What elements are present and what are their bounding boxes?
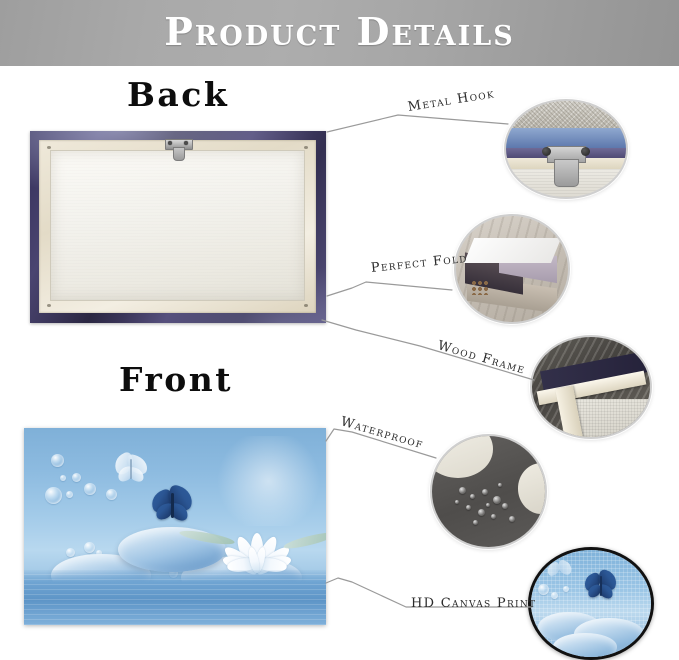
inset-wood-frame-closeup	[530, 335, 652, 439]
water-droplet	[72, 473, 81, 482]
water-droplet	[66, 491, 73, 498]
inset-perfect-fold-closeup	[454, 214, 570, 324]
canvas-back-photo	[30, 131, 326, 323]
canvas-front-artwork	[24, 428, 326, 625]
callout-label-waterproof: Waterproof	[339, 414, 425, 452]
water-droplet	[66, 548, 75, 557]
butterfly-blue	[151, 487, 195, 523]
water-surface	[24, 570, 326, 625]
page-title: Product Details	[0, 6, 679, 58]
product-details-infographic: Product Details Back Front	[0, 0, 679, 660]
water-droplet	[51, 454, 64, 467]
connector-perfect-fold	[327, 282, 452, 296]
lotus-leaf	[283, 530, 326, 551]
inset-waterproof-closeup	[430, 434, 547, 549]
water-droplet	[106, 489, 117, 500]
butterfly-blue	[584, 571, 618, 601]
metal-hook-hardware	[165, 139, 191, 159]
lotus-flower	[196, 489, 317, 560]
water-droplet	[45, 487, 62, 504]
callout-label-hd-canvas-print: HD Canvas Print	[411, 596, 536, 611]
water-droplet	[84, 542, 95, 553]
section-caption-back: Back	[127, 78, 229, 111]
callout-label-metal-hook: Metal Hook	[407, 86, 496, 115]
butterfly-pale	[547, 561, 573, 583]
section-caption-front: Front	[119, 363, 233, 396]
water-droplet	[60, 475, 66, 481]
inset-metal-hook-closeup	[504, 99, 628, 199]
canvas-back-wood-frame	[39, 140, 316, 313]
connector-metal-hook	[327, 115, 508, 132]
water-droplet	[84, 483, 96, 495]
canvas-back-surface	[50, 150, 305, 301]
inset-hd-canvas-print-closeup	[528, 547, 654, 660]
callout-label-wood-frame: Wood Frame	[436, 338, 527, 377]
butterfly-pale	[112, 454, 152, 486]
